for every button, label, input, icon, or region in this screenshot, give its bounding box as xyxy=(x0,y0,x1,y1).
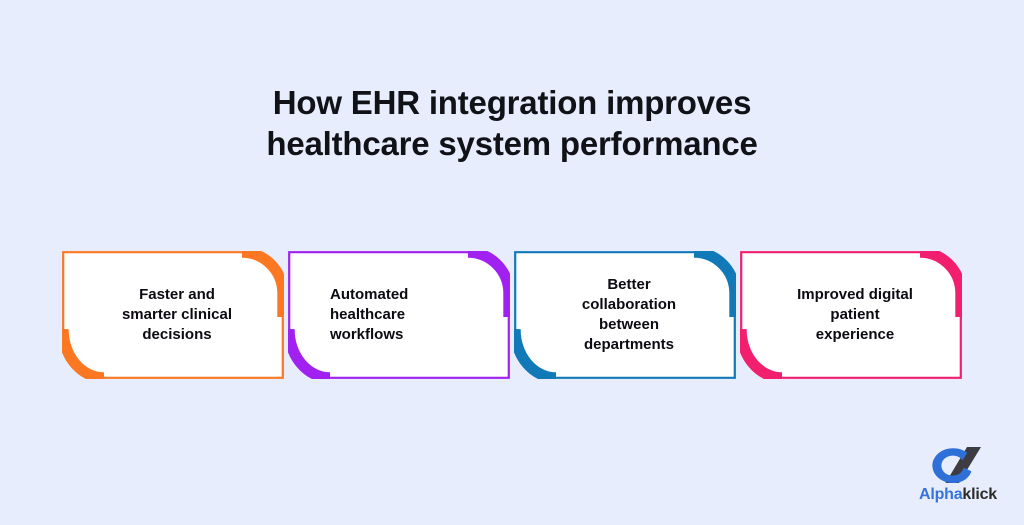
benefit-card-label: Automated healthcare workflows xyxy=(288,251,510,379)
page-title-line-2: healthcare system performance xyxy=(0,123,1024,164)
brand-logo-text: Alphaklick xyxy=(910,486,1006,504)
benefit-card-label: Faster and smarter clinical decisions xyxy=(62,251,284,379)
benefit-card-better-collaboration-between-departments[interactable]: Better collaboration between departments xyxy=(514,251,736,379)
benefit-card-label: Improved digital patient experience xyxy=(740,251,962,379)
page-title-line-1: How EHR integration improves xyxy=(0,82,1024,123)
benefit-card-row: Faster and smarter clinical decisions Au… xyxy=(62,251,962,379)
brand-logo[interactable]: Alphaklick xyxy=(910,445,1006,511)
brand-logo-text-klick: klick xyxy=(962,486,997,503)
alpha-symbol-icon xyxy=(929,445,987,485)
benefit-card-improved-digital-patient-experience[interactable]: Improved digital patient experience xyxy=(740,251,962,379)
page-title: How EHR integration improves healthcare … xyxy=(0,82,1024,164)
benefit-card-faster-smarter-clinical-decisions[interactable]: Faster and smarter clinical decisions xyxy=(62,251,284,379)
brand-logo-text-alpha: Alpha xyxy=(919,486,962,503)
benefit-card-automated-healthcare-workflows[interactable]: Automated healthcare workflows xyxy=(288,251,510,379)
benefit-card-label: Better collaboration between departments xyxy=(514,251,736,379)
infographic-canvas: How EHR integration improves healthcare … xyxy=(0,0,1024,525)
